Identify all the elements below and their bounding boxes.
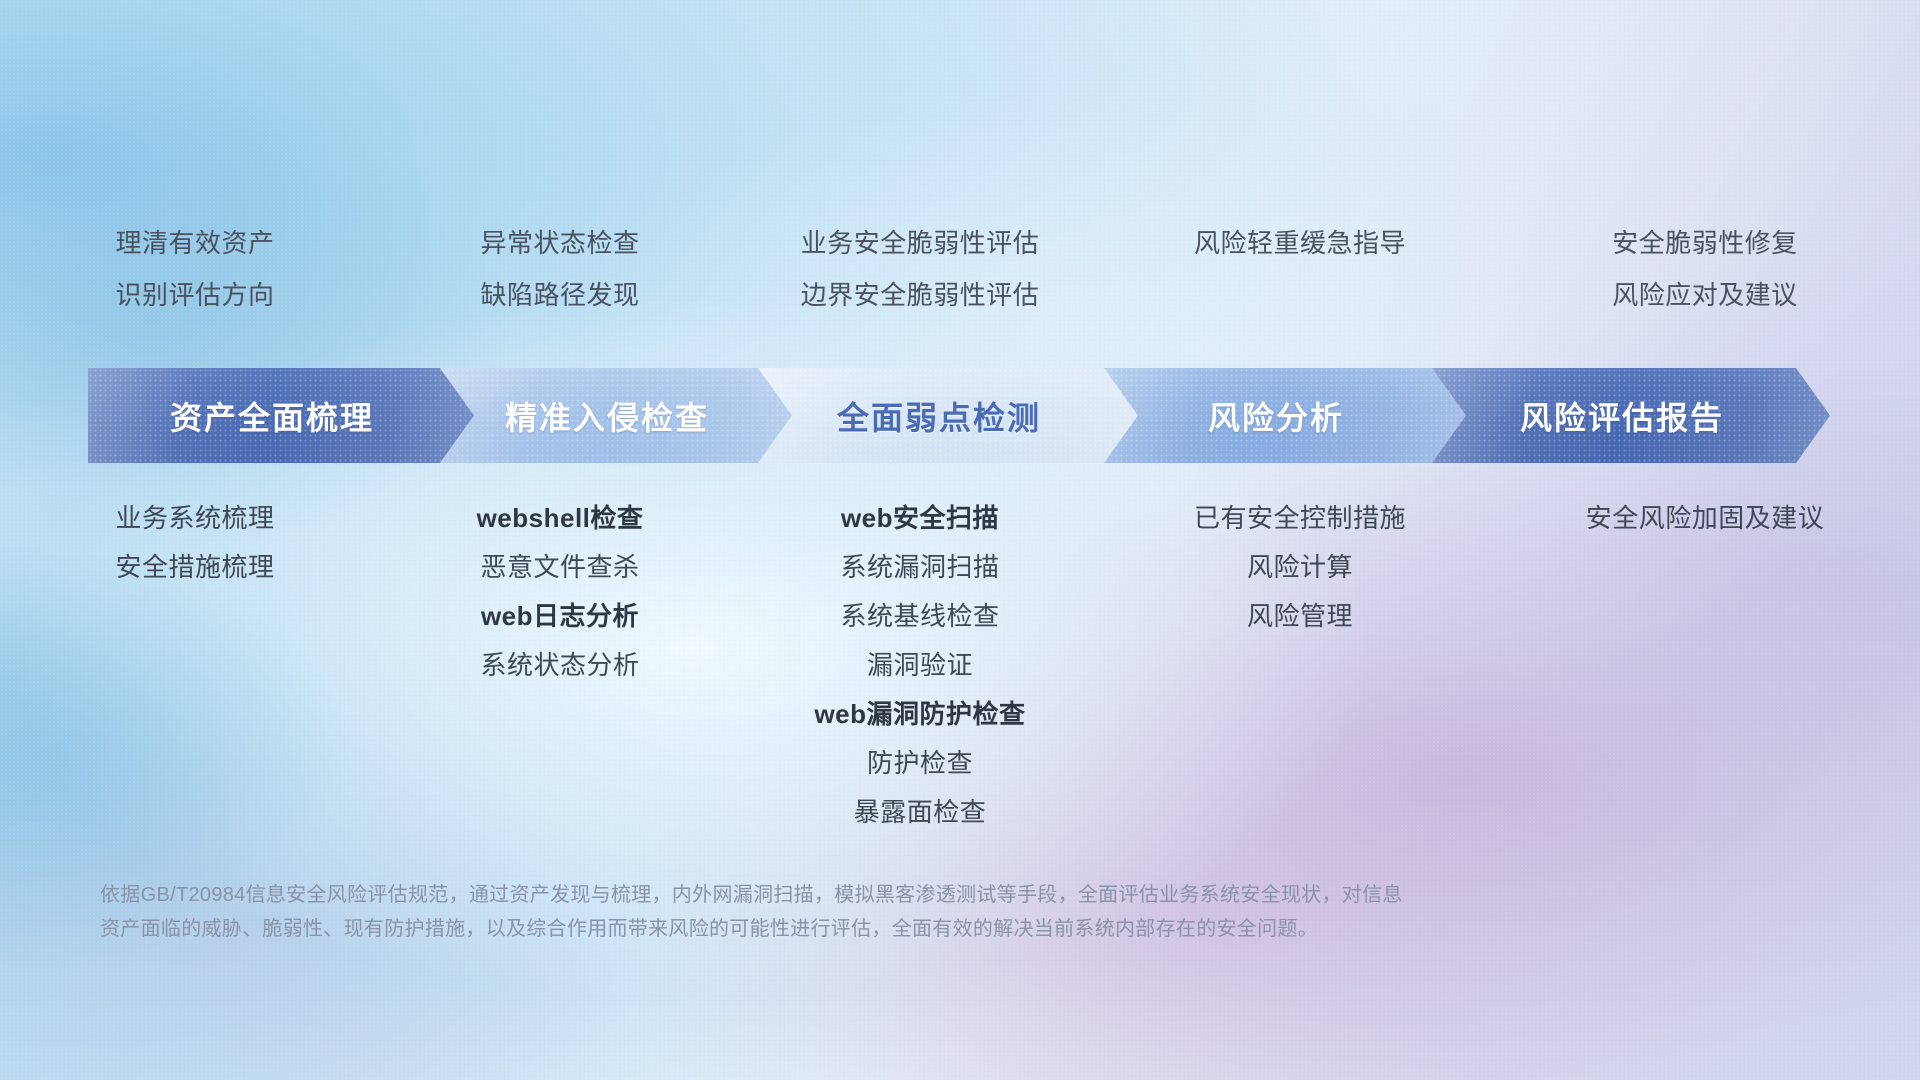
activity-item: 安全风险加固及建议: [1586, 505, 1825, 531]
stage-title-2: 精准入侵检查: [505, 393, 709, 439]
activities-column-1: 业务系统梳理 安全措施梳理: [0, 505, 390, 603]
activity-item: web日志分析: [481, 603, 639, 629]
outcome-label: 边界安全脆弱性评估: [801, 282, 1040, 308]
stage-chevron-2[interactable]: 精准入侵检查: [440, 368, 792, 463]
footer-description: 依据GB/T20984信息安全风险评估规范，通过资产发现与梳理，内外网漏洞扫描，…: [100, 878, 1660, 946]
outcomes-row: 理清有效资产 识别评估方向 异常状态检查 缺陷路径发现 业务安全脆弱性评估 边界…: [0, 230, 1920, 340]
activity-item: 恶意文件查杀: [480, 554, 639, 580]
stage-title-3: 全面弱点检测: [837, 393, 1041, 439]
outcome-label: 识别评估方向: [115, 282, 274, 308]
stage-chevron-4[interactable]: 风险分析: [1104, 368, 1466, 463]
activity-item: 风险管理: [1247, 603, 1353, 629]
footer-line-2: 资产面临的威胁、脆弱性、现有防护措施，以及综合作用而带来风险的可能性进行评估，全…: [100, 912, 1660, 946]
stage-chevron-1[interactable]: 资产全面梳理: [88, 368, 474, 463]
outcomes-column-4: 风险轻重缓急指导: [1110, 230, 1490, 282]
outcome-label: 异常状态检查: [480, 230, 639, 256]
activity-item: webshell检查: [477, 505, 644, 531]
stage-title-1: 资产全面梳理: [170, 393, 374, 439]
activity-item: 系统状态分析: [480, 652, 639, 678]
activities-column-3: web安全扫描 系统漏洞扫描 系统基线检查 漏洞验证 web漏洞防护检查 防护检…: [730, 505, 1110, 848]
stage-title-4: 风险分析: [1208, 393, 1344, 439]
activity-item: web安全扫描: [841, 505, 999, 531]
footer-line-1: 依据GB/T20984信息安全风险评估规范，通过资产发现与梳理，内外网漏洞扫描，…: [100, 878, 1660, 912]
outcome-label: 风险应对及建议: [1612, 282, 1798, 308]
activity-item: 系统基线检查: [840, 603, 999, 629]
outcome-label: 理清有效资产: [115, 230, 274, 256]
activity-item: 漏洞验证: [867, 652, 973, 678]
activity-item: 暴露面检查: [854, 799, 987, 825]
outcomes-column-2: 异常状态检查 缺陷路径发现: [390, 230, 730, 334]
process-arrow-banner: 资产全面梳理 精准入侵检查 全面弱点检测 风险分析 风险评估报告: [88, 368, 1846, 463]
activities-row: 业务系统梳理 安全措施梳理 webshell检查 恶意文件查杀 web日志分析 …: [0, 505, 1920, 845]
outcome-label: 风险轻重缓急指导: [1194, 230, 1406, 256]
activity-item: 风险计算: [1247, 554, 1353, 580]
activity-item: 防护检查: [867, 750, 973, 776]
activity-item: web漏洞防护检查: [814, 701, 1025, 727]
stage-chevron-5[interactable]: 风险评估报告: [1432, 368, 1830, 463]
outcomes-column-3: 业务安全脆弱性评估 边界安全脆弱性评估: [730, 230, 1110, 334]
outcome-label: 安全脆弱性修复: [1612, 230, 1798, 256]
activity-item: 安全措施梳理: [115, 554, 274, 580]
stage-chevron-3[interactable]: 全面弱点检测: [758, 368, 1138, 463]
outcome-label: 缺陷路径发现: [480, 282, 639, 308]
activities-column-2: webshell检查 恶意文件查杀 web日志分析 系统状态分析: [390, 505, 730, 701]
activity-item: 系统漏洞扫描: [840, 554, 999, 580]
outcomes-column-1: 理清有效资产 识别评估方向: [0, 230, 390, 334]
activity-item: 业务系统梳理: [115, 505, 274, 531]
outcome-label: 业务安全脆弱性评估: [801, 230, 1040, 256]
activities-column-4: 已有安全控制措施 风险计算 风险管理: [1110, 505, 1490, 652]
outcomes-column-5: 安全脆弱性修复 风险应对及建议: [1490, 230, 1920, 334]
activity-item: 已有安全控制措施: [1194, 505, 1406, 531]
stage-title-5: 风险评估报告: [1520, 393, 1724, 439]
activities-column-5: 安全风险加固及建议: [1490, 505, 1920, 554]
